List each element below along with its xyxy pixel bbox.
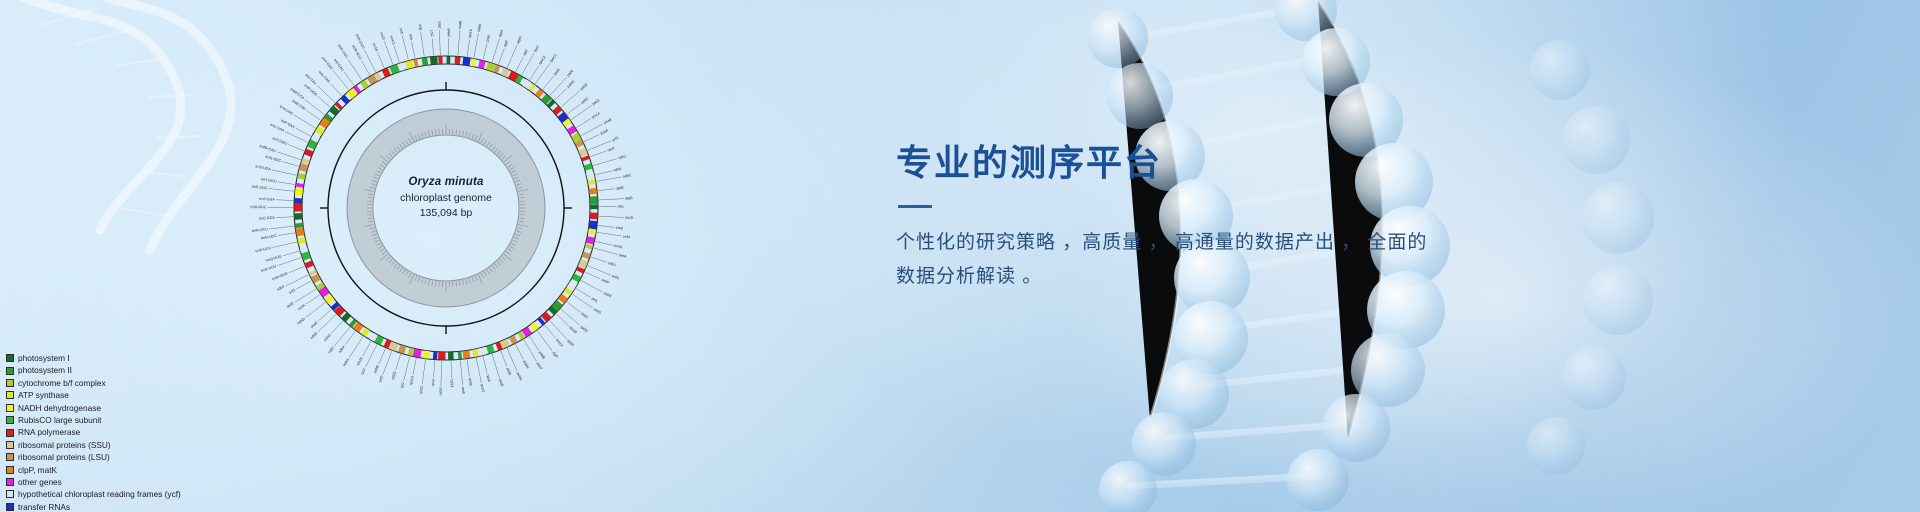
gene-block (555, 108, 559, 112)
gene-label: rps11 (480, 384, 486, 393)
gene-leader-line (272, 170, 296, 175)
gene-label: rpl22 (419, 386, 424, 394)
gene-block (550, 102, 553, 105)
gene-block (303, 248, 304, 252)
gene-leader-line (363, 341, 371, 356)
gene-block (575, 275, 578, 280)
gene-label: rrn4.5 (389, 35, 396, 45)
gene-label: psaJ (580, 311, 589, 319)
gene-block (391, 68, 399, 71)
gene-label: trnS-UGA (255, 164, 272, 171)
gene-label: rps7 (360, 367, 367, 375)
gene-leader-line (344, 72, 354, 86)
gene-leader-line (276, 200, 293, 201)
gene-label: rpoC1 (549, 53, 558, 63)
gene-label: rps19 (409, 376, 415, 386)
gene-block (590, 172, 592, 179)
gene-leader-line (434, 361, 435, 378)
gene-label: trnQ-UUG (265, 254, 282, 262)
gene-leader-line (319, 309, 332, 320)
gene-label: psbA (447, 28, 451, 37)
gene-block (344, 315, 348, 319)
gene-block (351, 322, 354, 325)
gene-block (585, 157, 586, 160)
gene-leader-line (594, 248, 618, 255)
gene-leader-line (349, 337, 363, 358)
legend-item: cytochrome b/f complex (6, 377, 236, 389)
gene-block (478, 351, 486, 353)
legend-item-label: NADH dehydrogenase (18, 404, 101, 412)
gene-leader-line (535, 63, 550, 83)
gene-block (540, 320, 543, 322)
gene-leader-line (432, 39, 433, 56)
gene-label: atpE (616, 186, 624, 191)
gene-leader-line (561, 91, 580, 107)
gene-leader-line (379, 349, 386, 365)
legend-item: NADH dehydrogenase (6, 402, 236, 414)
gene-block (495, 68, 499, 70)
legend-item: clpP, matK (6, 464, 236, 476)
gene-label: ndhE (310, 331, 319, 340)
gene-block (334, 304, 337, 307)
legend-item-label: hypothetical chloroplast reading frames … (18, 490, 181, 498)
gene-label: trnG-GCC (265, 155, 282, 163)
legend-color-swatch (6, 354, 14, 362)
gene-block (301, 174, 302, 179)
gene-leader-line (590, 151, 606, 157)
gene-label: rps4 (607, 146, 615, 152)
gene-leader-line (498, 48, 504, 64)
gene-block (312, 271, 314, 274)
gene-leader-line (593, 159, 617, 166)
gene-label: trnK-UUU (261, 264, 277, 273)
gene-leader-line (296, 128, 311, 136)
gene-label: psbB (538, 351, 546, 361)
gene-label: trnI-GAU (333, 58, 345, 72)
gene-leader-line (285, 132, 308, 143)
gene-label: rps2 (533, 45, 540, 53)
gene-leader-line (306, 302, 326, 317)
gene-block (524, 82, 530, 86)
gene-label: matK (458, 20, 463, 29)
gene-block (303, 164, 305, 171)
gene-block (337, 308, 342, 314)
gene-block (578, 142, 580, 147)
gene-label: psbN (522, 360, 530, 370)
gene-leader-line (394, 46, 399, 62)
gene-leader-line (305, 100, 325, 115)
gene-block (463, 354, 470, 355)
gene-block (318, 128, 321, 133)
gene-leader-line (599, 216, 624, 217)
gene-leader-line (272, 242, 296, 248)
gene-leader-line (543, 76, 554, 89)
gene-label: psbD (580, 82, 589, 91)
gene-block (399, 66, 404, 68)
gene-leader-line (318, 314, 336, 331)
gene-leader-line (467, 40, 469, 57)
gene-label: trnP-UGG (303, 83, 318, 97)
legend-item-label: ribosomal proteins (SSU) (18, 441, 111, 449)
gene-leader-line (492, 38, 500, 62)
legend-item-label: clpP, matK (18, 466, 57, 474)
gene-label: trnL-UAA (270, 123, 286, 133)
gene-label: rpl2 (400, 382, 405, 389)
gene-label: IRB (418, 24, 423, 31)
gene-leader-line (492, 354, 500, 378)
legend-color-swatch (6, 367, 14, 375)
gene-label: ndhC (622, 173, 632, 179)
gene-leader-line (567, 104, 580, 114)
gene-leader-line (576, 288, 590, 297)
gene-block (299, 188, 300, 195)
gene-leader-line (483, 43, 487, 59)
gene-label: rbcL (617, 205, 624, 209)
gene-leader-line (333, 70, 349, 89)
gene-label: petB (506, 367, 513, 376)
gene-leader-line (588, 266, 611, 275)
gene-block (570, 283, 574, 290)
gene-label: trnV-GAC (321, 56, 334, 71)
gene-leader-line (294, 115, 315, 128)
gene-label: atpH (516, 35, 523, 44)
gene-label: psaA (600, 128, 610, 135)
gene-label: rrn5 (398, 27, 403, 34)
gene-label: rpl36 (468, 378, 473, 386)
legend-item-label: other genes (18, 478, 62, 486)
gene-block (422, 61, 427, 62)
gene-leader-line (501, 351, 507, 367)
legend-item: RNA polymerase (6, 426, 236, 438)
gene-label: psbZ (591, 98, 600, 106)
gene-leader-line (307, 111, 321, 121)
legend-item: ATP synthase (6, 389, 236, 401)
gene-label: rrn16 (372, 43, 379, 52)
gene-label: trnV-UAC (279, 105, 294, 117)
gene-block (463, 61, 470, 62)
gene-label: rps15 (356, 356, 364, 366)
gene-leader-line (331, 321, 342, 334)
gene-block (473, 353, 478, 354)
gene-label: trnY-GUA (259, 197, 275, 202)
gene-label: psbT (536, 362, 544, 372)
gene-leader-line (317, 85, 335, 102)
gene-label: trnW-CCA (290, 87, 306, 100)
gene-label: rps14 (591, 111, 601, 119)
gene-label: trnD-GUC (251, 205, 267, 209)
gene-block (511, 338, 516, 341)
legend-item-label: ribosomal proteins (LSU) (18, 453, 110, 461)
legend-color-swatch (6, 503, 14, 511)
gene-leader-line (522, 53, 534, 75)
legend-item: hypothetical chloroplast reading frames … (6, 488, 236, 500)
gene-leader-line (581, 124, 603, 136)
gene-label: psbM (566, 80, 575, 89)
gene-leader-line (555, 88, 567, 100)
gene-leader-line (516, 344, 524, 359)
gene-leader-line (348, 59, 362, 80)
gene-block (308, 262, 310, 267)
gene-block (355, 325, 361, 329)
gene-block (301, 238, 302, 244)
gene-label: rps12 (555, 338, 564, 347)
gene-label: rpl23 (391, 371, 397, 380)
gene-block (567, 289, 570, 293)
gene-label: petL (591, 296, 599, 303)
banner-copy: 专业的测序平台 个性化的研究策略 ，高质量 ， 高通量的数据产出 ， 全面的数据… (896, 142, 1596, 293)
gene-leader-line (318, 96, 331, 107)
gene-label: ndhB (373, 364, 380, 374)
gene-leader-line (441, 361, 442, 386)
gene-leader-line (297, 281, 312, 289)
legend-item: transfer RNAs (6, 501, 236, 512)
gene-label: rpoC2 (538, 55, 547, 65)
gene-label: trnT-GGU (261, 177, 277, 183)
gene-leader-line (524, 340, 537, 362)
gene-block (517, 78, 521, 80)
gene-leader-line (585, 272, 600, 279)
gene-label: petD (498, 379, 504, 388)
gene-leader-line (591, 257, 607, 262)
gene-label: trnR-UCU (252, 227, 269, 233)
gene-leader-line (289, 266, 305, 272)
gene-block (592, 229, 593, 234)
gene-block (363, 331, 368, 334)
gene-block (551, 309, 554, 313)
gene-block (510, 74, 517, 78)
gene-block (532, 325, 536, 328)
gene-block (502, 342, 509, 345)
gene-leader-line (597, 177, 622, 181)
legend-item: photosystem II (6, 364, 236, 376)
page-title: 专业的测序平台 (896, 142, 1596, 183)
gene-label: SSC (437, 21, 441, 29)
gene-leader-line (598, 189, 615, 191)
gene-leader-line (295, 289, 316, 302)
gene-block (314, 137, 316, 141)
gene-label: atpF (503, 39, 510, 48)
gene-block (369, 78, 376, 82)
gene-block (561, 296, 565, 301)
gene-label: psaB (603, 117, 613, 125)
gene-leader-line (597, 232, 622, 236)
gene-block (299, 228, 300, 236)
gene-leader-line (412, 42, 415, 59)
gene-leader-line (595, 171, 612, 175)
legend-item-label: RubisCO large subunit (18, 416, 101, 424)
gene-label: LSC (430, 30, 435, 38)
gene-label: atpB (625, 196, 633, 200)
gene-block (322, 120, 327, 127)
gene-block (308, 150, 310, 156)
gene-leader-line (439, 30, 440, 55)
legend-item: photosystem I (6, 352, 236, 364)
gene-label: trnA-UGC (337, 44, 349, 60)
gene-label: trnM-CAU (291, 99, 307, 112)
gene-leader-line (595, 241, 612, 245)
legend-item: other genes (6, 476, 236, 488)
gene-block (591, 180, 592, 184)
genome-legend: photosystem Iphotosystem IIcytochrome b/… (6, 352, 236, 512)
gene-block (544, 97, 549, 102)
gene-leader-line (404, 357, 410, 381)
gene-block (390, 345, 398, 348)
gene-block (487, 348, 493, 350)
gene-block (372, 336, 375, 338)
gene-leader-line (474, 33, 479, 58)
gene-leader-line (402, 35, 408, 59)
gene-block (582, 149, 585, 155)
gene-label: trnS-GCU (255, 246, 272, 253)
gene-leader-line (361, 61, 369, 76)
gene-block (502, 71, 508, 74)
gene-leader-line (467, 360, 469, 377)
gene-label: atpI (522, 49, 528, 56)
gene-block (487, 66, 494, 68)
legend-item-label: RNA polymerase (18, 428, 80, 436)
gene-label: psbH (516, 372, 523, 382)
legend-color-swatch (6, 490, 14, 498)
gene-block (305, 159, 306, 163)
gene-block (311, 141, 314, 148)
gene-leader-line (451, 361, 452, 378)
gene-label: IRA (408, 34, 413, 41)
gene-leader-line (556, 314, 568, 326)
gene-block (585, 253, 587, 258)
gene-leader-line (537, 331, 552, 351)
gene-label: trnC-GCA (259, 216, 276, 221)
gene-block (356, 88, 359, 90)
gene-label: rrn23 (379, 31, 386, 40)
gene-label: ndhF (276, 284, 286, 292)
gene-label: rpoB (553, 67, 561, 76)
gene-block (327, 297, 331, 302)
title-divider (898, 205, 932, 208)
gene-label: psbK (477, 22, 483, 31)
gene-label: trnE-UUC (252, 185, 268, 191)
gene-label: rpl20 (566, 339, 574, 348)
gene-block (314, 275, 317, 281)
legend-color-swatch (6, 453, 14, 461)
gene-block (299, 223, 300, 228)
gene-label: trnG-UCC (261, 234, 278, 241)
legend-item-label: transfer RNAs (18, 503, 70, 511)
gene-leader-line (561, 309, 580, 325)
gene-label: ndhK (613, 167, 623, 173)
gene-label: ccsA (297, 303, 306, 311)
gene-leader-line (377, 52, 384, 68)
chloroplast-genome-map: psbAmatKrps16psbKpsbIatpAatpFatpHatpIrps… (246, 8, 646, 408)
gene-leader-line (458, 31, 460, 56)
gene-label: clpP (551, 351, 559, 359)
gene-block (593, 221, 594, 229)
gene-label: rps16 (468, 29, 473, 38)
gene-leader-line (599, 199, 624, 200)
gene-block (566, 121, 569, 125)
gene-label: petA (619, 253, 628, 259)
gene-label: cemA (613, 243, 623, 249)
gene-leader-line (269, 188, 294, 191)
legend-color-swatch (6, 404, 14, 412)
gene-label: accD (625, 215, 634, 219)
gene-block (590, 237, 591, 244)
gene-block (409, 351, 413, 352)
gene-label: ndhG (323, 333, 332, 342)
gene-label: psaI (616, 226, 623, 231)
gene-label: ycf4 (623, 234, 630, 239)
gene-block (580, 268, 582, 272)
gene-leader-line (576, 119, 590, 128)
legend-color-swatch (6, 391, 14, 399)
gene-label: ndhD (297, 317, 307, 326)
gene-label: ycf1 (288, 288, 296, 295)
gene-block (561, 114, 566, 120)
legend-item-label: cytochrome b/f complex (18, 379, 106, 387)
gene-block (430, 60, 437, 61)
gene-block (524, 330, 530, 334)
gene-block (423, 354, 429, 355)
gene-block (376, 75, 380, 77)
gene-block (332, 108, 336, 113)
gene-label: rpoA (486, 374, 492, 383)
legend-item-label: photosystem II (18, 366, 72, 374)
gene-block (574, 135, 578, 142)
gene-label: ycf3 (612, 136, 620, 142)
gene-block (385, 343, 390, 345)
gene-label: rps8 (461, 387, 466, 394)
gene-block (582, 260, 585, 267)
gene-label: rpl14 (450, 379, 454, 387)
gene-leader-line (516, 57, 524, 72)
gene-leader-line (598, 225, 615, 227)
gene-leader-line (550, 321, 567, 339)
gene-label: psaC (310, 320, 319, 329)
gene-leader-line (413, 358, 416, 375)
gene-label: petN (566, 69, 574, 78)
gene-label: ndhH (342, 357, 350, 367)
gene-label: psbF (601, 278, 611, 285)
gene-leader-line (421, 32, 425, 57)
gene-label: rpl16 (439, 387, 443, 395)
legend-color-swatch (6, 478, 14, 486)
gene-leader-line (571, 105, 591, 119)
gene-leader-line (483, 356, 487, 372)
gene-label: ycf2 (378, 375, 384, 383)
gene-block (406, 64, 413, 66)
gene-leader-line (422, 360, 425, 385)
gene-block (338, 105, 341, 108)
gene-label: psbI (486, 35, 492, 43)
legend-color-swatch (6, 416, 14, 424)
gene-block (305, 252, 307, 259)
gene-block (588, 245, 589, 249)
gene-leader-line (278, 233, 295, 236)
gene-leader-line (572, 294, 593, 308)
legend-item: RubisCO large subunit (6, 414, 236, 426)
gene-leader-line (269, 226, 294, 229)
legend-color-swatch (6, 441, 14, 449)
gene-block (479, 64, 485, 65)
gene-leader-line (460, 360, 462, 385)
gene-block (383, 71, 389, 74)
gene-leader-line (396, 354, 401, 370)
gene-label: rpl32 (286, 301, 295, 309)
gene-label: atpA (498, 29, 504, 38)
gene-leader-line (584, 134, 599, 141)
gene-block (587, 164, 589, 169)
gene-block (497, 345, 501, 347)
gene-label: trnL-CAA (318, 70, 331, 84)
